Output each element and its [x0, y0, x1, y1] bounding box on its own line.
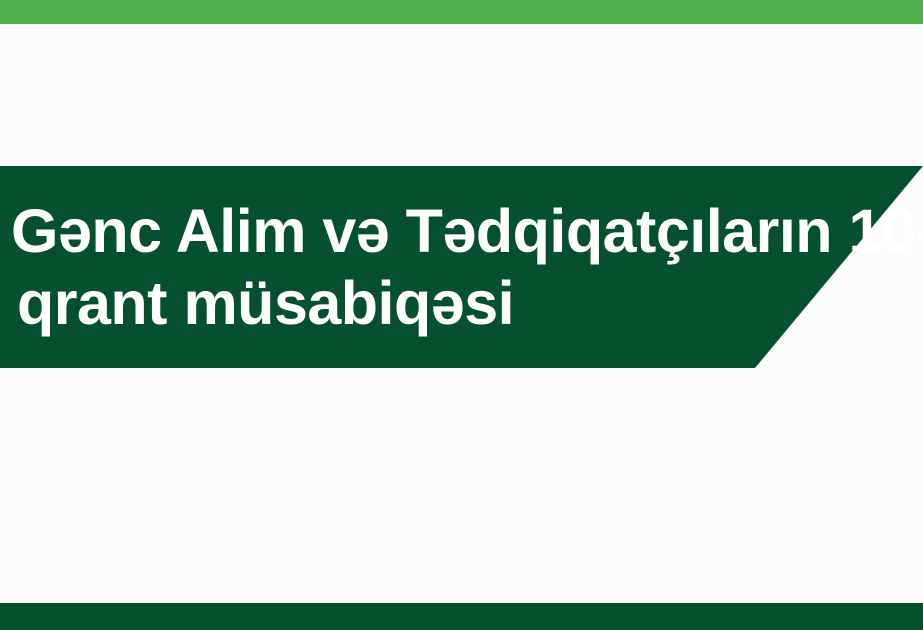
page-root: Gənc Alim və Tədqiqatçıların 10-cu qrant…	[0, 0, 923, 630]
bottom-accent-bar	[0, 603, 923, 630]
top-accent-bar	[0, 0, 923, 24]
